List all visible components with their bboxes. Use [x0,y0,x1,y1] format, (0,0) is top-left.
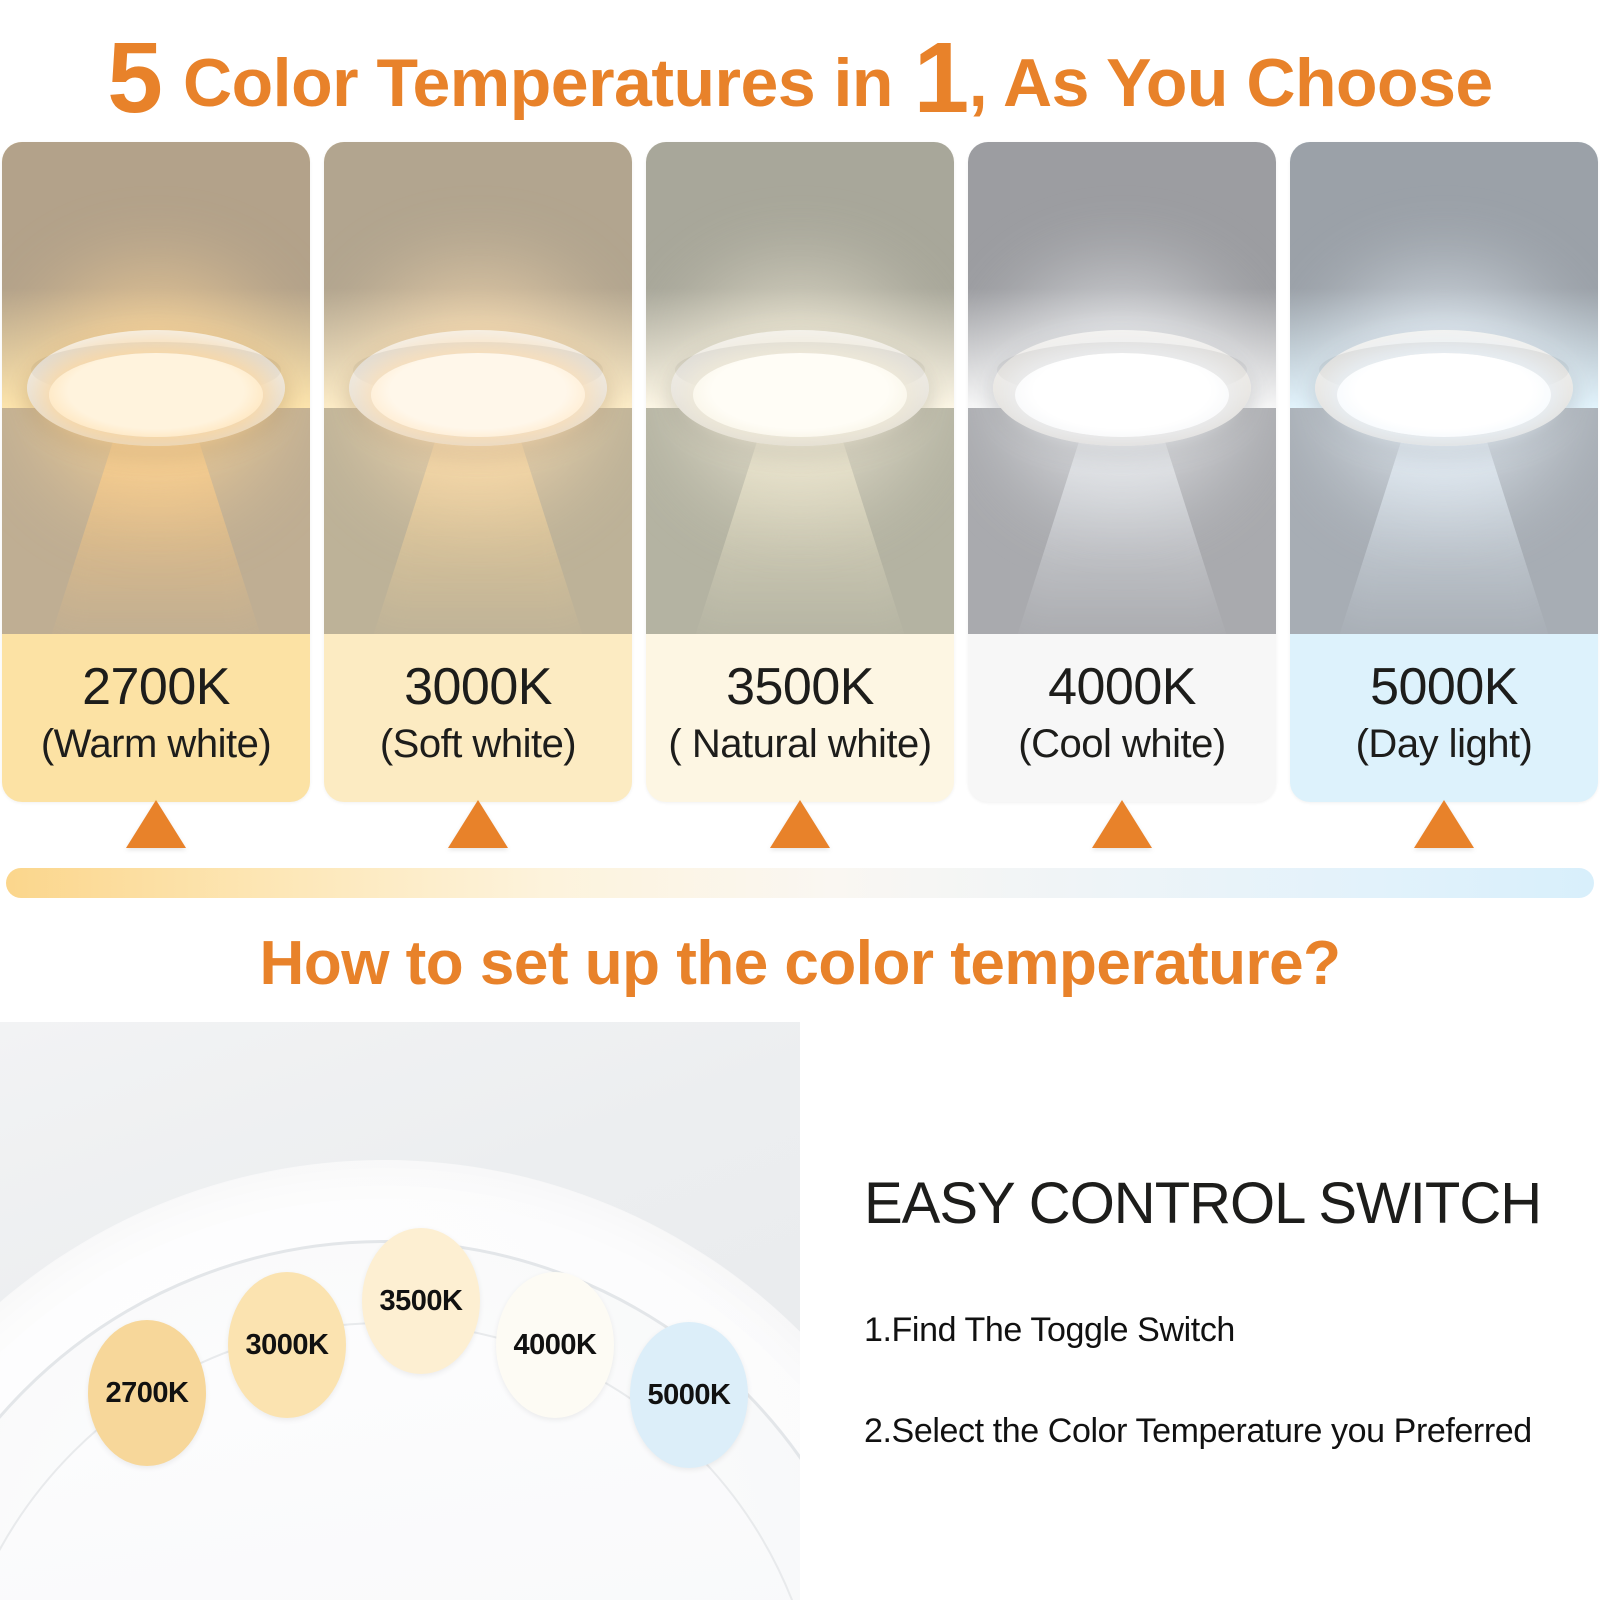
ceiling-light-fixture [1315,330,1573,446]
temperature-label-block: 4000K(Cool white) [968,634,1276,802]
headline-mid-number: 1 [914,22,969,134]
temperature-bubble[interactable]: 2700K [88,1320,206,1466]
headline-part2: , As You Choose [969,45,1493,121]
setup-section: 2700K3000K3500K4000K5000K 2700K3000K3500… [0,1022,1600,1600]
fixture-lens [49,353,263,437]
temperature-label-block: 3000K(Soft white) [324,634,632,802]
page-title: 5 Color Temperatures in 1, As You Choose [0,26,1600,131]
pointer-triangle-cell [324,800,632,856]
pointer-triangle-icon [1092,800,1152,848]
light-scene-photo [646,142,954,634]
temperature-kelvin: 3000K [324,656,632,719]
fixture-lens [693,353,907,437]
temperature-card[interactable]: 4000K(Cool white) [968,142,1276,802]
light-scene-photo [2,142,310,634]
temperature-card-row: 2700K(Warm white)3000K(Soft white)3500K(… [0,142,1600,802]
pointer-triangle-cell [1290,800,1598,856]
temperature-bubble[interactable]: 3000K [228,1272,346,1418]
temperature-name: (Cool white) [968,719,1276,769]
light-scene-photo [1290,142,1598,634]
temperature-kelvin: 3500K [646,656,954,719]
temperature-label-block: 3500K( Natural white) [646,634,954,802]
headline-part1: Color Temperatures in [183,45,893,121]
headline-lead-number: 5 [107,22,162,134]
ceiling-light-fixture [993,330,1251,446]
instructions-panel: EASY CONTROL SWITCH 1.Find The Toggle Sw… [800,1022,1600,1600]
temperature-card[interactable]: 5000K(Day light) [1290,142,1598,802]
instruction-step-1: 1.Find The Toggle Switch [864,1311,1600,1350]
switch-product-photo: 2700K3000K3500K4000K5000K 2700K3000K3500… [0,1022,800,1600]
temperature-kelvin: 5000K [1290,656,1598,719]
instructions-title: EASY CONTROL SWITCH [864,1170,1600,1237]
ceiling-light-fixture [671,330,929,446]
temperature-card[interactable]: 2700K(Warm white) [2,142,310,802]
temperature-label-block: 5000K(Day light) [1290,634,1598,802]
infographic-page: 5 Color Temperatures in 1, As You Choose… [0,0,1600,1600]
temperature-kelvin: 2700K [2,656,310,719]
temperature-kelvin: 4000K [968,656,1276,719]
ceiling-light-fixture [349,330,607,446]
light-scene-photo [968,142,1276,634]
fixture-lens [1015,353,1229,437]
temperature-card[interactable]: 3000K(Soft white) [324,142,632,802]
pointer-triangle-cell [2,800,310,856]
temperature-name: ( Natural white) [646,719,954,769]
section-subtitle: How to set up the color temperature? [0,928,1600,999]
instruction-step-2: 2.Select the Color Temperature you Prefe… [864,1412,1600,1451]
temperature-gradient-divider [6,868,1594,898]
temperature-name: (Soft white) [324,719,632,769]
pointer-triangle-icon [1414,800,1474,848]
temperature-name: (Day light) [1290,719,1598,769]
pointer-triangle-icon [126,800,186,848]
fixture-lens [1337,353,1551,437]
temperature-bubble[interactable]: 5000K [630,1322,748,1468]
temperature-name: (Warm white) [2,719,310,769]
pointer-triangle-icon [770,800,830,848]
temperature-label-block: 2700K(Warm white) [2,634,310,802]
temperature-bubble[interactable]: 4000K [496,1272,614,1418]
pointer-triangle-cell [646,800,954,856]
pointer-triangle-cell [968,800,1276,856]
light-scene-photo [324,142,632,634]
temperature-bubble[interactable]: 3500K [362,1228,480,1374]
fixture-lens [371,353,585,437]
temperature-card[interactable]: 3500K( Natural white) [646,142,954,802]
pointer-triangle-row [0,800,1600,856]
pointer-triangle-icon [448,800,508,848]
ceiling-light-fixture [27,330,285,446]
